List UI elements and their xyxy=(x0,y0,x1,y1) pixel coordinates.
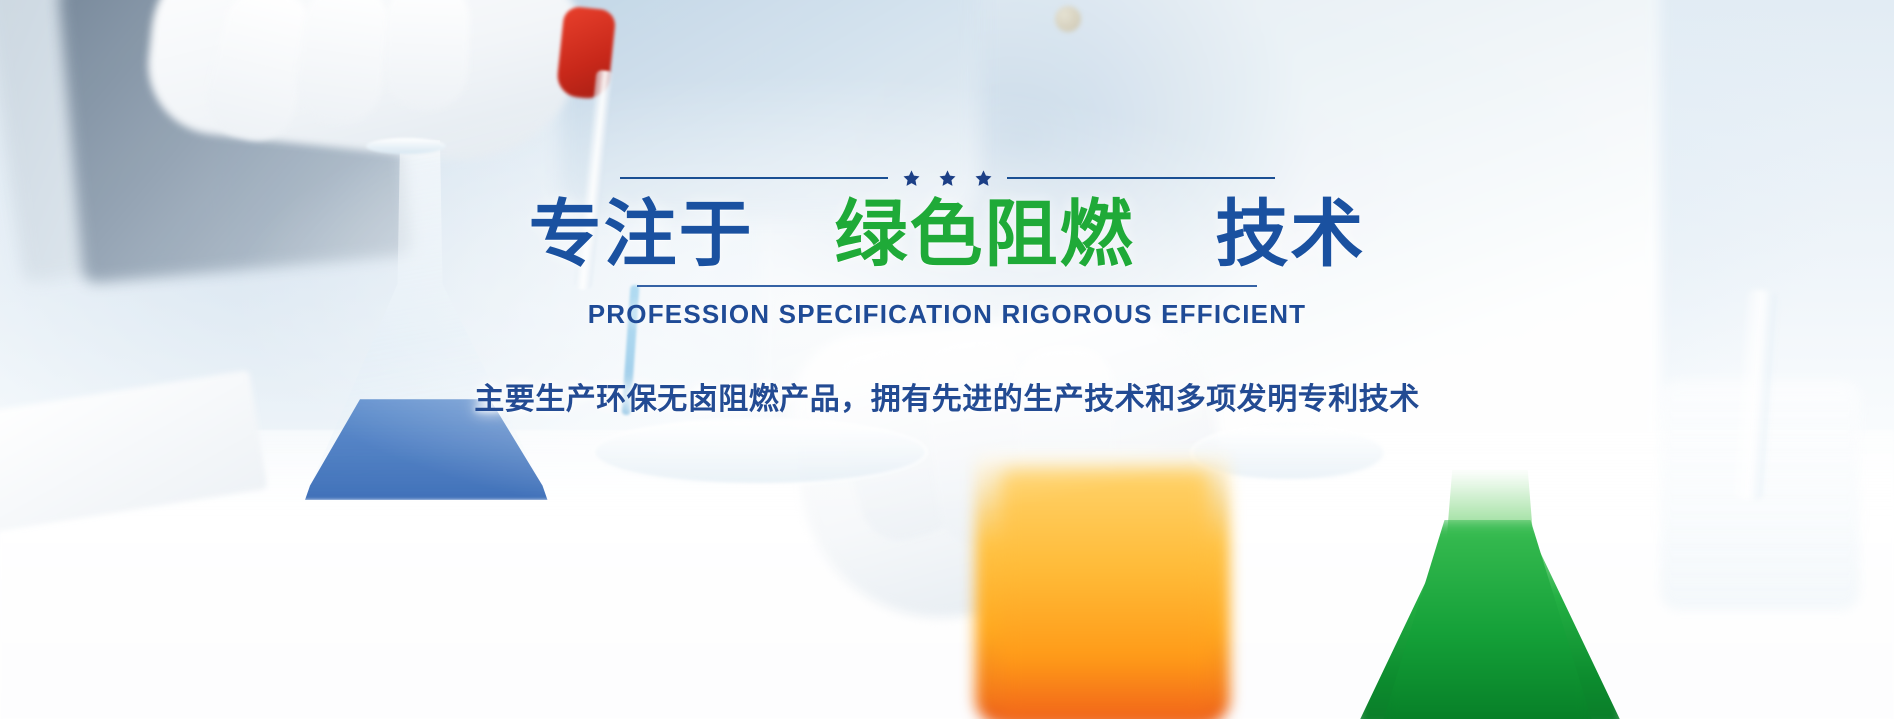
erlenmeyer-flask-rim xyxy=(366,138,446,154)
star-group xyxy=(902,169,993,188)
headline-part-1: 专注于 xyxy=(529,192,754,277)
coat-button xyxy=(1055,6,1081,32)
star-icon xyxy=(902,169,921,188)
headline-part-3: 技术 xyxy=(1215,192,1365,277)
page-title: 专注于 绿色阻燃 技术 xyxy=(529,196,1366,273)
glove-finger xyxy=(383,0,471,111)
subtitle-divider xyxy=(637,285,1257,287)
banner-content: 专注于 绿色阻燃 技术 PROFESSION SPECIFICATION RIG… xyxy=(0,168,1894,418)
divider-line-right xyxy=(1007,177,1275,179)
headline-part-2: 绿色阻燃 xyxy=(835,192,1135,277)
star-icon xyxy=(938,169,957,188)
decorative-divider xyxy=(620,168,1275,188)
divider-line-left xyxy=(620,177,888,179)
banner-subtitle: PROFESSION SPECIFICATION RIGOROUS EFFICI… xyxy=(588,299,1307,330)
banner-tagline: 主要生产环保无卤阻燃产品，拥有先进的生产技术和多项发明专利技术 xyxy=(474,374,1420,418)
petri-dish xyxy=(592,418,928,486)
star-icon xyxy=(974,169,993,188)
orange-beaker-liquid xyxy=(1000,470,1210,719)
hero-banner: 专注于 绿色阻燃 技术 PROFESSION SPECIFICATION RIG… xyxy=(0,0,1894,719)
